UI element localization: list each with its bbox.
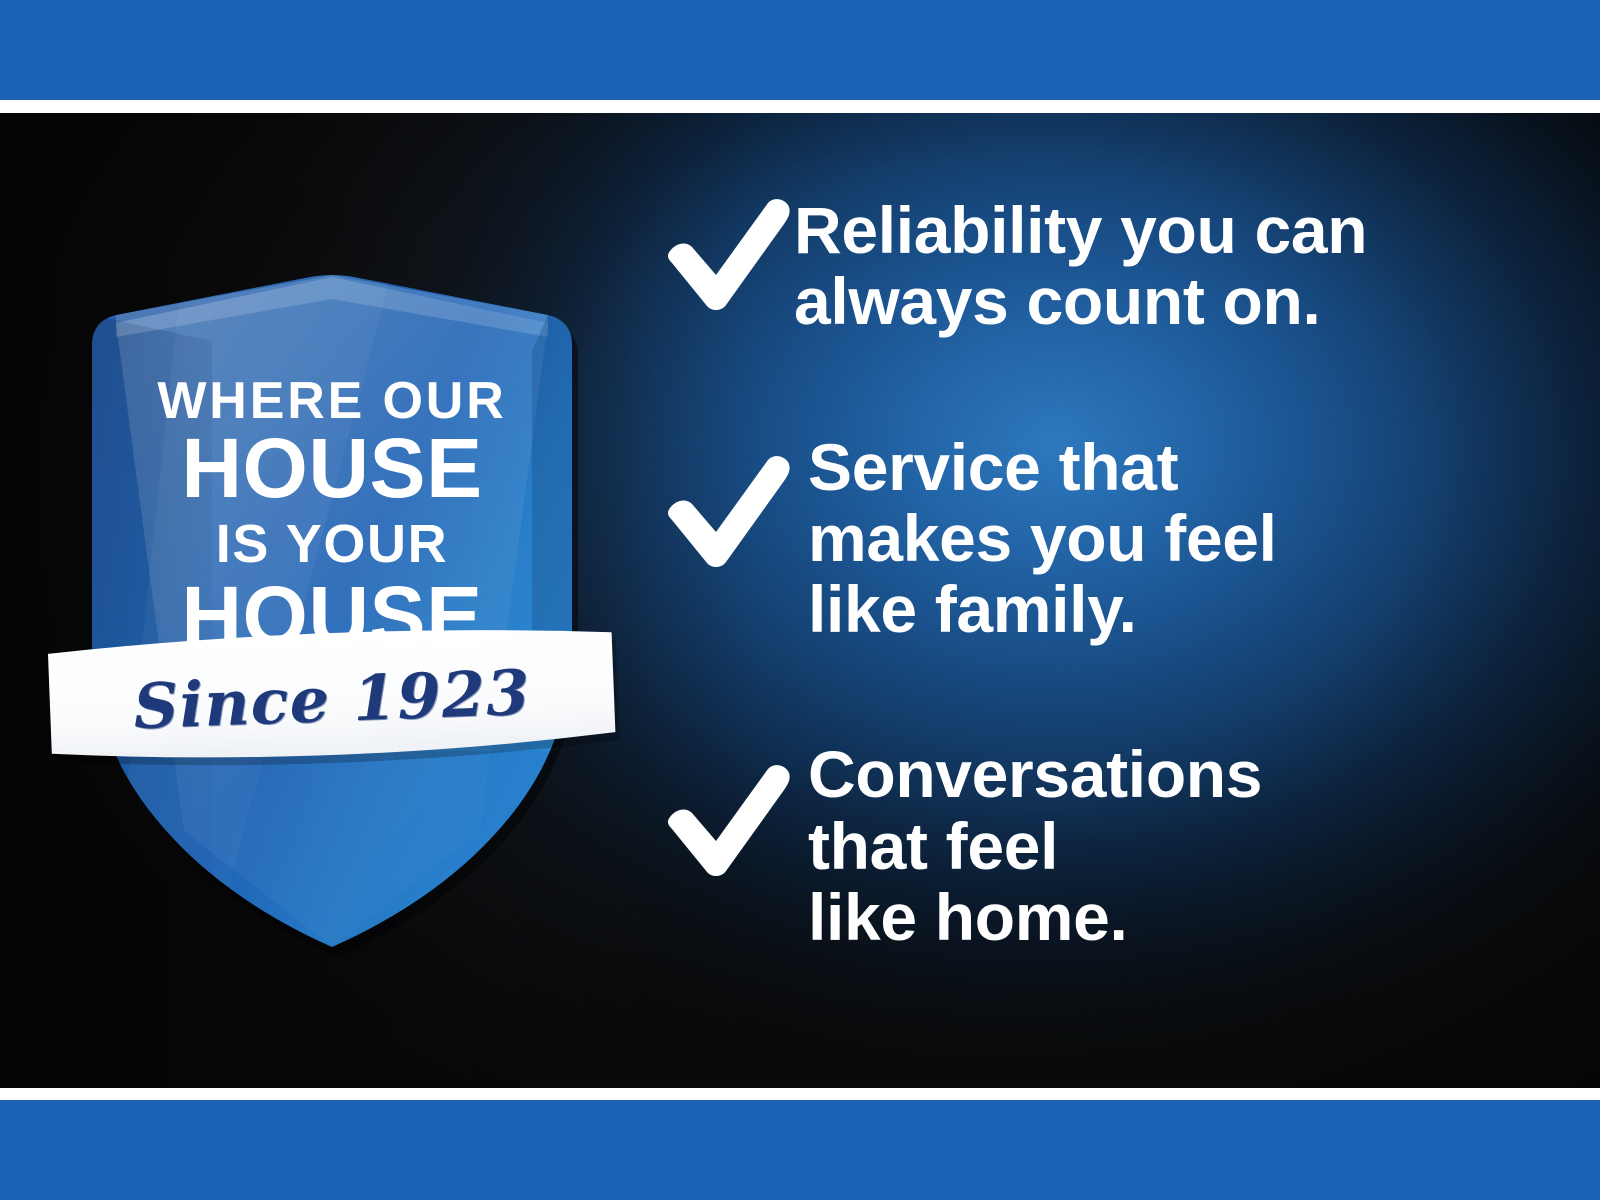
checkmark-icon (662, 765, 794, 877)
benefits-list: Reliability you can always count on. Ser… (662, 193, 1522, 953)
list-item-label: Conversations that feel like home. (794, 737, 1522, 953)
top-white-divider (0, 100, 1600, 113)
list-item: Service that makes you feel like family. (662, 430, 1522, 646)
list-item: Reliability you can always count on. (662, 193, 1522, 338)
top-brand-bar (0, 0, 1600, 100)
main-stage: WHERE OUR HOUSE IS YOUR HOUSE Since 1923… (0, 113, 1600, 1088)
shield-badge: WHERE OUR HOUSE IS YOUR HOUSE Since 1923 (62, 271, 602, 951)
shield-graphic (62, 271, 602, 951)
list-item-label: Reliability you can always count on. (794, 193, 1522, 338)
bottom-brand-bar (0, 1100, 1600, 1200)
promo-graphic: WHERE OUR HOUSE IS YOUR HOUSE Since 1923… (0, 0, 1600, 1200)
list-item: Conversations that feel like home. (662, 737, 1522, 953)
checkmark-icon (662, 199, 794, 311)
checkmark-icon (662, 456, 794, 568)
list-item-label: Service that makes you feel like family. (794, 430, 1522, 646)
shield-bottom-tint (92, 751, 572, 971)
bottom-white-divider (0, 1088, 1600, 1100)
